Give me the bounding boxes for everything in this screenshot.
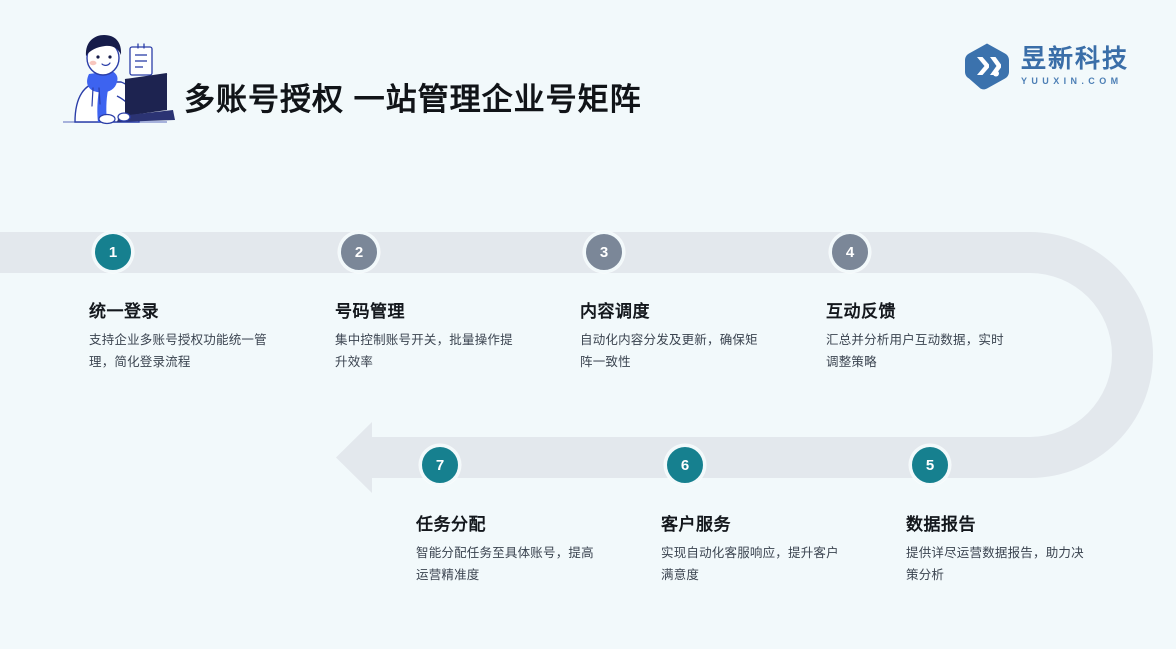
step-7-title: 任务分配 [416, 510, 486, 535]
step-6-desc: 实现自动化客服响应，提升客户满意度 [661, 542, 851, 586]
step-4-badge: 4 [829, 231, 871, 273]
step-5-desc: 提供详尽运营数据报告，助力决策分析 [906, 542, 1096, 586]
brand-name: 昱新科技 [1021, 45, 1129, 73]
step-3-desc: 自动化内容分发及更新，确保矩阵一致性 [580, 329, 770, 373]
step-7-badge: 7 [419, 444, 461, 486]
ribbon-top-segment [0, 232, 1030, 273]
step-1-badge: 1 [92, 231, 134, 273]
step-2-title: 号码管理 [335, 297, 405, 322]
person-at-laptop-illustration [55, 22, 175, 134]
ribbon-u-turn [1030, 232, 1153, 478]
brand-domain: YUUXIN.COM [1021, 75, 1129, 87]
page-header: 多账号授权 一站管理企业号矩阵 昱新科技 YUUXIN.COM [0, 0, 1176, 160]
page-title: 多账号授权 一站管理企业号矩阵 [184, 74, 642, 119]
step-6-badge: 6 [664, 444, 706, 486]
hexagon-x-logo-icon [963, 42, 1011, 90]
brand-logo[interactable]: 昱新科技 YUUXIN.COM [963, 42, 1163, 98]
brand-text: 昱新科技 YUUXIN.COM [1021, 45, 1129, 87]
step-5-title: 数据报告 [906, 510, 976, 535]
left-arrow-head [336, 422, 372, 493]
step-6-title: 客户服务 [661, 510, 731, 535]
step-3-title: 内容调度 [580, 297, 650, 322]
step-1-title: 统一登录 [89, 297, 159, 322]
step-4-title: 互动反馈 [826, 297, 896, 322]
step-2-desc: 集中控制账号开关，批量操作提升效率 [335, 329, 525, 373]
step-2-badge: 2 [338, 231, 380, 273]
step-4-desc: 汇总并分析用户互动数据，实时调整策略 [826, 329, 1016, 373]
step-1-desc: 支持企业多账号授权功能统一管理，简化登录流程 [89, 329, 279, 373]
step-3-badge: 3 [583, 231, 625, 273]
step-7-desc: 智能分配任务至具体账号，提高运营精准度 [416, 542, 606, 586]
step-5-badge: 5 [909, 444, 951, 486]
